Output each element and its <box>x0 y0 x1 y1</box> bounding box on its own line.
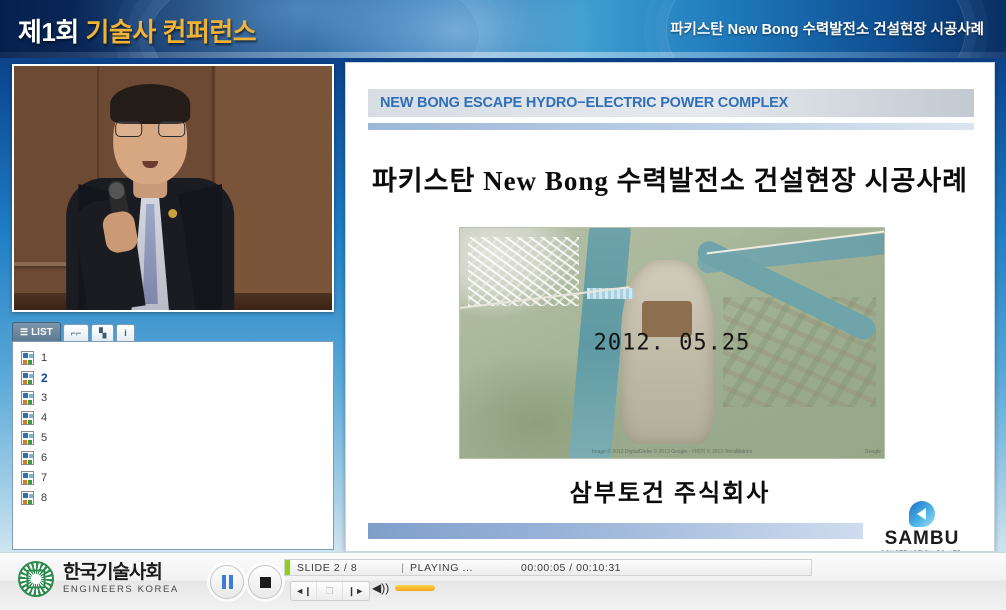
list-item[interactable]: 8 <box>19 488 329 508</box>
powerpoint-slide-icon <box>21 451 34 465</box>
photo-brand-label: Google <box>865 449 881 455</box>
speaker-icon[interactable]: ◀)) <box>372 581 389 595</box>
slide-banner: NEW BONG ESCAPE HYDRO−ELECTRIC POWER COM… <box>368 89 974 117</box>
pause-button[interactable] <box>210 565 244 599</box>
list-item-label: 3 <box>41 392 47 404</box>
conference-name: 기술사 컨퍼런스 <box>86 17 257 47</box>
tab-thumbnails[interactable]: ▚ <box>91 324 114 341</box>
conference-number: 제1회 <box>18 17 79 47</box>
player-toolbar: 한국기술사회 ENGINEERS KOREA SLIDE 2 / 8 | PLA… <box>0 552 1006 610</box>
list-item[interactable]: 1 <box>19 348 329 368</box>
presentation-player-window: 제1회 기술사 컨퍼런스 파키스탄 New Bong 수력발전소 건설현장 시공… <box>0 0 1006 610</box>
repeat-button[interactable]: ❐ <box>317 582 343 600</box>
list-item-label: 2 <box>41 371 48 385</box>
list-item[interactable]: 5 <box>19 428 329 448</box>
page-header: 제1회 기술사 컨퍼런스 파키스탄 New Bong 수력발전소 건설현장 시공… <box>0 0 1006 58</box>
volume-control[interactable]: ◀)) <box>372 581 435 595</box>
list-item-label: 7 <box>41 472 47 484</box>
list-item-label: 6 <box>41 452 47 464</box>
photo-date-label: 2012. 05.25 <box>460 331 884 356</box>
tab-info[interactable]: i <box>116 324 135 341</box>
navigation-buttons: ◄❙ ❐ ❙► <box>290 581 370 601</box>
presenter-lapel-badge <box>168 209 177 218</box>
note-icon: ⌐⌐ <box>71 329 82 338</box>
organization-name: 한국기술사회 ENGINEERS KOREA <box>63 563 179 595</box>
organization-name-kr: 한국기술사회 <box>63 563 179 583</box>
glasses-icon <box>115 121 185 138</box>
conference-title: 제1회 기술사 컨퍼런스 <box>18 12 256 49</box>
satellite-photo: 2012. 05.25 Image © 2013 DigitalGlobe © … <box>459 227 885 459</box>
presenter-figure <box>55 90 245 310</box>
list-item-label: 4 <box>41 412 47 424</box>
kpea-seal-icon <box>18 561 54 597</box>
powerpoint-slide-icon <box>21 491 34 505</box>
list-item-label: 5 <box>41 432 47 444</box>
list-panel-tabs: ☰ LIST ⌐⌐ ▚ i <box>12 322 334 341</box>
powerpoint-slide-icon <box>21 351 34 365</box>
powerpoint-slide-icon <box>21 371 34 385</box>
slide-list-body[interactable]: 1 2 3 4 5 6 7 <box>12 341 334 550</box>
slide-counter: SLIDE 2 / 8 <box>297 562 357 574</box>
sambu-mark-icon <box>909 501 935 527</box>
list-item[interactable]: 4 <box>19 408 329 428</box>
list-item[interactable]: 6 <box>19 448 329 468</box>
time-display: 00:00:05 / 00:10:31 <box>521 562 621 574</box>
tab-list-label: LIST <box>31 327 53 338</box>
slide-bottom-accent-bar <box>368 523 863 539</box>
organization-name-en: ENGINEERS KOREA <box>63 584 179 595</box>
list-icon: ☰ <box>20 328 28 337</box>
stop-icon <box>260 577 271 588</box>
prev-slide-button[interactable]: ◄❙ <box>291 582 317 600</box>
sambu-logo-name: SAMBU <box>870 529 974 548</box>
stop-button[interactable] <box>248 565 282 599</box>
list-item[interactable]: 7 <box>19 468 329 488</box>
presenter-video-panel[interactable] <box>12 64 334 312</box>
grid-icon: ▚ <box>99 329 106 338</box>
session-title: 파키스탄 New Bong 수력발전소 건설현장 시공사례 <box>670 18 984 39</box>
progress-tick <box>285 560 290 575</box>
slide-banner-rule <box>368 123 974 130</box>
playback-status-bar: SLIDE 2 / 8 | PLAYING ... 00:00:05 / 00:… <box>284 559 812 576</box>
playback-state: PLAYING ... <box>410 562 473 574</box>
powerpoint-slide-icon <box>21 471 34 485</box>
list-item[interactable]: 3 <box>19 388 329 408</box>
slide-viewer[interactable]: NEW BONG ESCAPE HYDRO−ELECTRIC POWER COM… <box>345 62 995 552</box>
powerpoint-slide-icon <box>21 431 34 445</box>
slide-list-panel: ☰ LIST ⌐⌐ ▚ i 1 2 3 <box>12 322 334 550</box>
presenter-hair <box>110 84 190 124</box>
powerpoint-slide-icon <box>21 411 34 425</box>
list-item[interactable]: 2 <box>19 368 329 388</box>
sambu-logo: SAMBU CONSTRUCTION CO.,LTD. <box>870 501 974 552</box>
volume-slider[interactable] <box>395 585 435 591</box>
slide-heading: 파키스탄 New Bong 수력발전소 건설현장 시공사례 <box>346 159 994 198</box>
photo-credit-label: Image © 2013 DigitalGlobe © 2013 Google … <box>460 449 884 455</box>
list-item-label: 1 <box>41 352 47 364</box>
next-slide-button[interactable]: ❙► <box>343 582 369 600</box>
organization-logo: 한국기술사회 ENGINEERS KOREA <box>18 561 179 597</box>
info-icon: i <box>124 329 127 338</box>
tab-list[interactable]: ☰ LIST <box>12 322 61 341</box>
status-separator: | <box>401 562 404 574</box>
tab-note[interactable]: ⌐⌐ <box>63 324 90 341</box>
powerpoint-slide-icon <box>21 391 34 405</box>
list-item-label: 8 <box>41 492 47 504</box>
slide-banner-label: NEW BONG ESCAPE HYDRO−ELECTRIC POWER COM… <box>380 95 788 111</box>
pause-icon <box>222 575 233 589</box>
